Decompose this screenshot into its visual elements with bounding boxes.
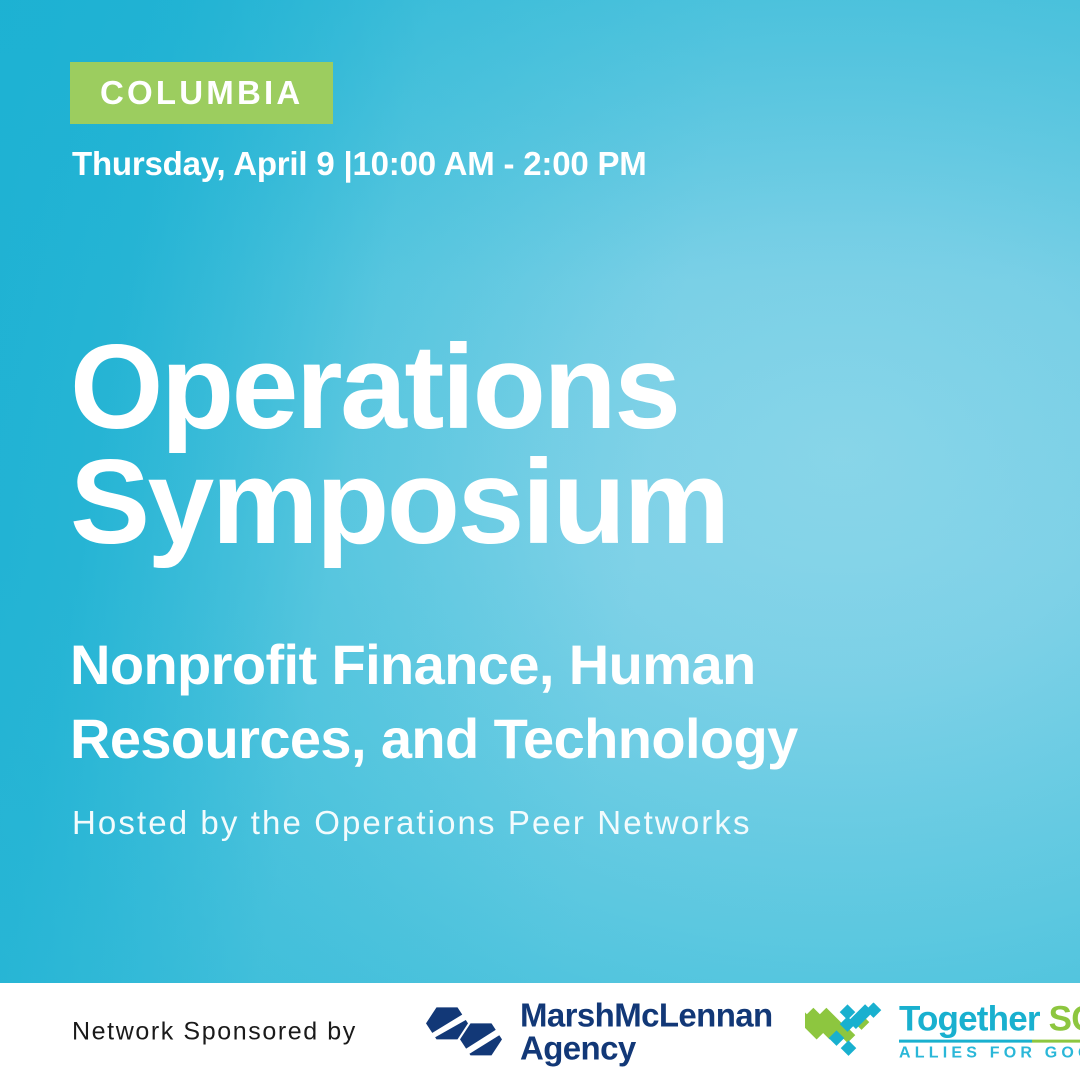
togethersc-divider-rule: [899, 1040, 1080, 1043]
togethersc-primary: Together: [899, 999, 1040, 1038]
togethersc-tagline: ALLIES FOR GOOD: [899, 1046, 1080, 1062]
page-subtitle-line-2: Resources, and Technology: [70, 702, 1030, 776]
marshmclennan-line-1: MarshMcLennan: [520, 998, 773, 1032]
sponsor-label: Network Sponsored by: [72, 1017, 357, 1046]
chevron-stripes-icon: [805, 1003, 889, 1061]
togethersc-main: Together SC: [899, 1001, 1080, 1038]
event-poster: COLUMBIA Thursday, April 9 |10:00 AM - 2…: [0, 0, 1080, 1080]
page-subtitle: Nonprofit Finance, Human Resources, and …: [70, 628, 1030, 776]
sponsor-wordmark-marshmclennan: MarshMcLennan Agency: [520, 998, 773, 1065]
marshmclennan-line-2: Agency: [520, 1032, 773, 1066]
sponsor-wordmark-togethersc: Together SC ALLIES FOR GOOD: [899, 1001, 1080, 1062]
togethersc-accent: SC: [1049, 999, 1080, 1038]
sponsor-logo-marshmclennan: MarshMcLennan Agency: [422, 998, 773, 1065]
page-title-line-1: Operations: [70, 330, 1010, 445]
page-title-line-2: Symposium: [70, 445, 1010, 560]
page-subtitle-line-1: Nonprofit Finance, Human: [70, 628, 1030, 702]
event-dateline: Thursday, April 9 |10:00 AM - 2:00 PM: [72, 146, 647, 182]
interlocking-hexagons-icon: [422, 1004, 506, 1060]
page-title: Operations Symposium: [70, 330, 1010, 560]
city-badge-label: COLUMBIA: [100, 76, 303, 109]
hosted-by-text: Hosted by the Operations Peer Networks: [72, 803, 752, 843]
sponsor-footer: Network Sponsored by MarshMcLennan Agenc…: [0, 983, 1080, 1080]
sponsor-logo-togethersc: Together SC ALLIES FOR GOOD: [805, 1001, 1080, 1062]
city-badge: COLUMBIA: [70, 62, 333, 124]
